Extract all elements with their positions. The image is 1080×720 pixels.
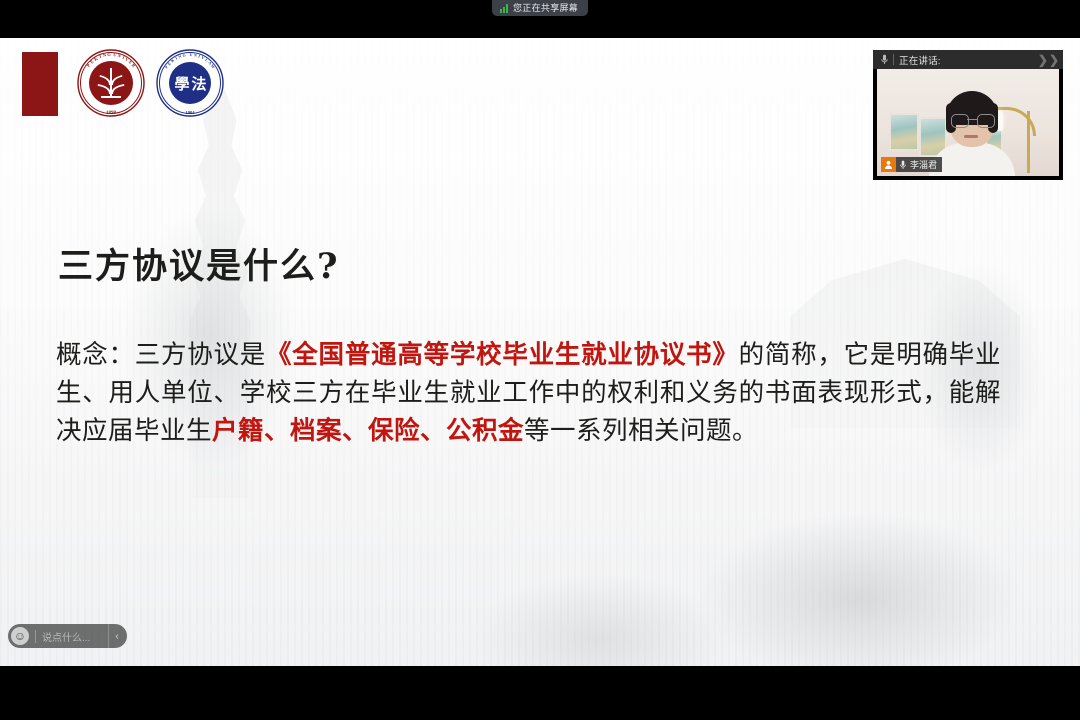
floor-lamp-pole [1027,111,1030,173]
participant-mouth [964,135,978,138]
svg-text:學: 學 [174,75,189,93]
signal-bars-icon [500,4,508,13]
person-icon [881,157,896,172]
chevron-left-icon[interactable]: ‹ [108,624,125,648]
body-segment-5: 等一系列相关问题。 [524,416,758,446]
speaker-video-panel[interactable]: 正在讲话: ❯❯ [873,50,1063,180]
screen-sharing-label: 您正在共享屏幕 [513,4,578,13]
screen-sharing-banner: 您正在共享屏幕 [492,0,588,16]
participant-name: 李淄君 [909,158,942,171]
slide-body-text: 概念：三方协议是《全国普通高等学校毕业生就业协议书》的简称，它是明确毕业生、用人… [56,336,1001,450]
body-highlight-benefits: 户籍、档案、保险、公积金 [212,416,524,446]
header-divider [893,54,894,65]
comment-input[interactable]: 说点什么... [42,629,104,644]
slide-title: 三方协议是什么? [58,238,340,289]
peking-university-law-school-seal-icon: 學 法 P E K I N G U N I V L [155,48,225,118]
participant-name-badge: 李淄君 [881,157,942,172]
participant-video-feed[interactable]: 李淄君 [877,69,1059,176]
double-chevron-icon[interactable]: ❯❯ [1038,54,1059,66]
screen-share-viewer: 您正在共享屏幕 [0,0,1080,720]
wall-painting-1 [889,113,919,151]
peking-university-seal-icon: P E K I N G U N I V E R 1898 [76,48,146,118]
microphone-icon [877,54,891,65]
body-segment-1: 概念：三方协议是 [56,340,266,370]
svg-text:法: 法 [191,75,206,93]
smiley-icon[interactable]: ☺ [11,627,29,645]
participant-glasses-right [977,114,995,128]
svg-text:1898: 1898 [106,111,117,116]
participant-glasses-bridge [967,119,977,120]
comment-bar[interactable]: ☺ 说点什么... ‹ [8,624,127,648]
svg-text:U: U [189,52,192,57]
slide-accent-bar [22,52,58,116]
body-highlight-agreement-title: 《全国普通高等学校毕业生就业协议书》 [266,340,739,370]
participant-glasses-left [951,114,969,128]
comment-divider [35,630,36,643]
speaking-label: 正在讲话: [899,53,941,67]
video-panel-header: 正在讲话: ❯❯ [873,50,1063,69]
microphone-icon [896,160,909,170]
svg-text:1904: 1904 [185,110,195,115]
